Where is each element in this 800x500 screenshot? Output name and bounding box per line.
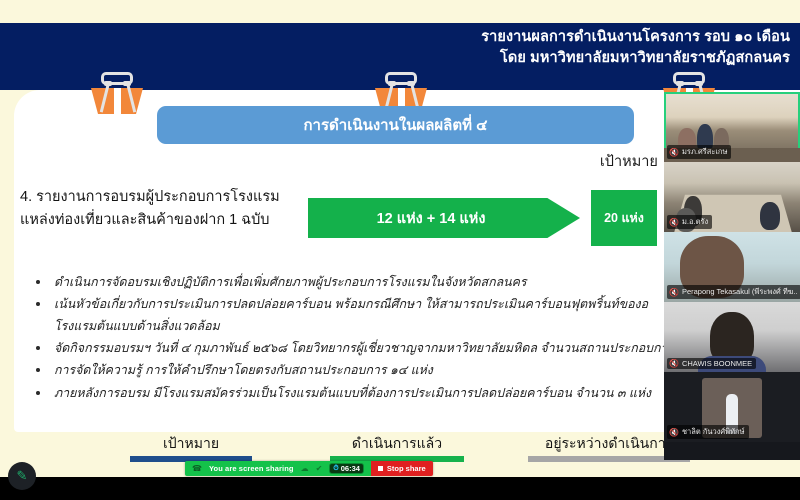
output-item-description: 4. รายงานการอบรมผู้ประกอบการโรงแรม แหล่ง…	[20, 186, 310, 233]
mic-muted-icon: 🔇	[669, 148, 679, 157]
zoom-client-window: รายงานผลการดำเนินงานโครงการ รอบ ๑๐ เดือน…	[0, 0, 800, 500]
bullet-list: ดำเนินการจัดอบรมเชิงปฏิบัติการเพื่อเพิ่ม…	[28, 272, 676, 405]
participant-name-badge: 🔇 มรภ.ศรีสะเกษ	[667, 145, 731, 159]
mic-muted-icon: 🔇	[669, 218, 679, 227]
slide-title-text: การดำเนินงานในผลผลิตที่ ๔	[303, 113, 487, 137]
sharing-status-segment[interactable]: ☎ You are screen sharing ☁ ✔ ⏱ 06:34	[185, 461, 371, 476]
binder-clip-icon	[88, 72, 146, 116]
share-timer[interactable]: ⏱ 06:34	[329, 463, 364, 474]
legend-label: ดำเนินการแล้ว	[330, 436, 464, 451]
list-item: การจัดให้ความรู้ การให้คำปรึกษาโดยตรงกับ…	[28, 360, 676, 381]
participant-tile[interactable]: 🔇 Perapong Tekasakul (พีระพงศ์ ทีฆ..	[664, 232, 800, 302]
mic-muted-icon: 🔇	[669, 428, 679, 437]
participant-name-badge: 🔇 CHAWIS BOONMEE	[667, 358, 756, 369]
participant-video-filmstrip[interactable]: 🔇 มรภ.ศรีสะเกษ 🔇 ม.อ.ตรัง 🔇 Perapong Tek…	[664, 92, 800, 460]
legend-label: เป้าหมาย	[130, 436, 252, 451]
sharing-status-label: You are screen sharing	[209, 464, 294, 473]
annotate-button[interactable]: ✎	[8, 462, 36, 490]
screen-share-toolbar[interactable]: ☎ You are screen sharing ☁ ✔ ⏱ 06:34 Sto…	[185, 461, 433, 476]
goal-label: เป้าหมาย	[600, 154, 658, 170]
list-item: เน้นหัวข้อเกี่ยวกับการประเมินการปลดปล่อย…	[28, 294, 676, 337]
legend-item-completed: ดำเนินการแล้ว	[330, 436, 464, 462]
slide-header-line1: รายงานผลการดำเนินงานโครงการ รอบ ๑๐ เดือน	[481, 27, 790, 48]
participant-tile[interactable]: 🔇 ชาลิต กันวงศ์พิทักษ์	[664, 372, 800, 442]
slide-header-text: รายงานผลการดำเนินงานโครงการ รอบ ๑๐ เดือน…	[481, 27, 790, 68]
participant-name: CHAWIS BOONMEE	[682, 359, 752, 368]
participant-name-badge: 🔇 ม.อ.ตรัง	[667, 215, 712, 229]
stop-square-icon	[378, 466, 383, 471]
cloud-record-icon[interactable]: ☁	[301, 464, 309, 473]
target-value-label: 20 แห่ง	[604, 208, 644, 228]
participant-tile[interactable]: 🔇 มรภ.ศรีสะเกษ	[664, 92, 800, 162]
stop-share-label: Stop share	[387, 464, 426, 473]
participant-name: มรภ.ศรีสะเกษ	[682, 146, 727, 158]
target-value-box: 20 แห่ง	[591, 190, 657, 246]
pencil-annotate-icon: ✎	[17, 468, 28, 484]
progress-arrow-label: 12 แห่ง + 14 แห่ง	[377, 207, 486, 230]
slide-header-line2: โดย มหาวิทยาลัยมหาวิทยาลัยราชภัฏสกลนคร	[481, 48, 790, 69]
participant-name: ชาลิต กันวงศ์พิทักษ์	[682, 426, 745, 438]
output-item-row: 4. รายงานการอบรมผู้ประกอบการโรงแรม แหล่ง…	[14, 186, 674, 252]
progress-arrow-bar: 12 แห่ง + 14 แห่ง	[308, 198, 580, 238]
goal-header-row: เป้าหมาย 9	[0, 150, 700, 173]
legend-item-goal: เป้าหมาย	[130, 436, 252, 462]
client-bottom-bar	[0, 477, 800, 500]
list-item: ภายหลังการอบรม มีโรงแรมสมัครร่วมเป็นโรงแ…	[28, 383, 676, 404]
participant-tile[interactable]: 🔇 ม.อ.ตรัง	[664, 162, 800, 232]
participant-name: ม.อ.ตรัง	[682, 216, 708, 228]
participant-name-badge: 🔇 Perapong Tekasakul (พีระพงศ์ ทีฆ..	[667, 285, 800, 299]
list-item: ดำเนินการจัดอบรมเชิงปฏิบัติการเพื่อเพิ่ม…	[28, 272, 676, 293]
mic-muted-icon: 🔇	[669, 288, 679, 297]
phone-icon: ☎	[192, 464, 202, 473]
slide-title-banner: การดำเนินงานในผลผลิตที่ ๔	[157, 106, 634, 144]
participant-name: Perapong Tekasakul (พีระพงศ์ ทีฆ..	[682, 286, 798, 298]
participant-name-badge: 🔇 ชาลิต กันวงศ์พิทักษ์	[667, 425, 749, 439]
stop-share-button[interactable]: Stop share	[371, 461, 433, 476]
security-shield-icon[interactable]: ✔	[316, 464, 323, 473]
timer-icon: ⏱	[333, 465, 338, 473]
list-item: จัดกิจกรรมอบรมฯ วันที่ ๔ กุมภาพันธ์ ๒๕๖๘…	[28, 338, 676, 359]
participant-tile[interactable]: 🔇 CHAWIS BOONMEE	[664, 302, 800, 372]
mic-muted-icon: 🔇	[669, 359, 679, 368]
share-timer-value: 06:34	[341, 464, 360, 473]
